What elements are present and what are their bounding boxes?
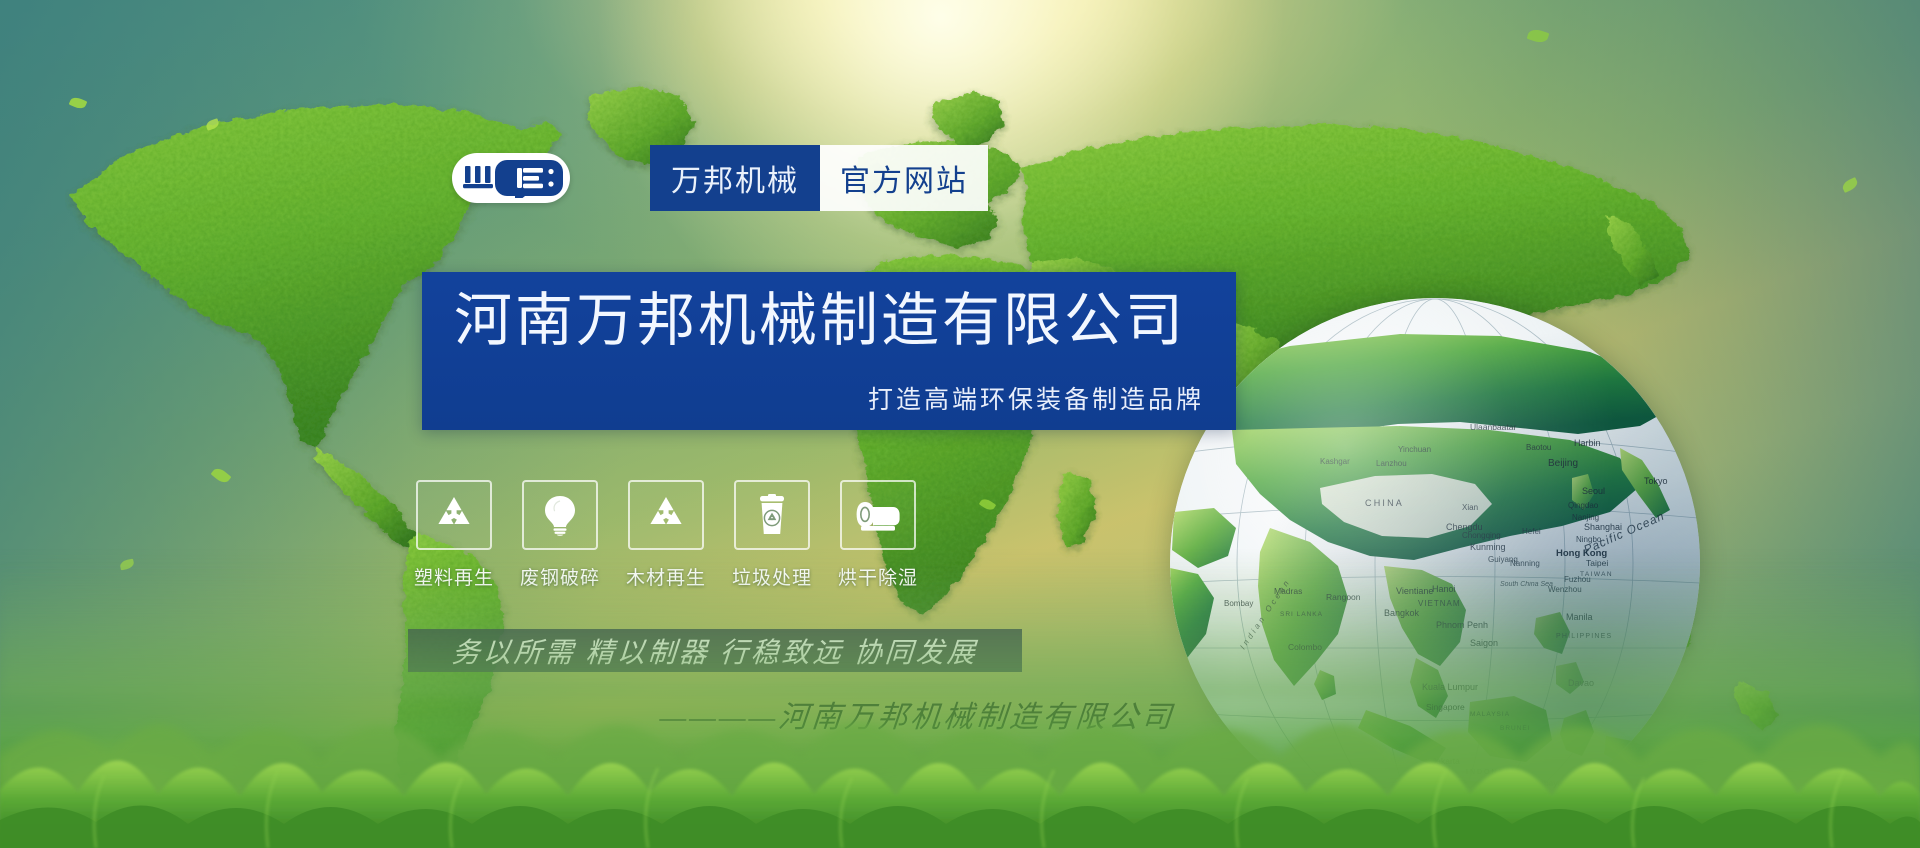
feature-box[interactable] xyxy=(734,480,810,550)
feature-box[interactable] xyxy=(628,480,704,550)
dryer-icon xyxy=(855,498,901,532)
grass-blades xyxy=(0,608,1920,848)
svg-text:Seoul: Seoul xyxy=(1582,486,1605,496)
svg-text:Chongqing: Chongqing xyxy=(1462,531,1501,540)
trash-bin-icon xyxy=(756,494,788,536)
svg-text:Hefei: Hefei xyxy=(1522,527,1541,536)
svg-text:Ningbo: Ningbo xyxy=(1576,535,1602,544)
svg-text:Xian: Xian xyxy=(1462,503,1478,512)
feature-box[interactable] xyxy=(522,480,598,550)
brand-tab-company[interactable]: 万邦机械 xyxy=(650,145,820,211)
svg-text:CHINA: CHINA xyxy=(1365,498,1404,508)
lightbulb-icon xyxy=(543,494,577,536)
hero-banner-stage: CHINA Beijing Ulaanbaatar Harbin Seoul T… xyxy=(0,0,1920,848)
svg-text:Nanjing: Nanjing xyxy=(1572,513,1599,522)
svg-text:Qingdao: Qingdao xyxy=(1568,501,1599,510)
svg-text:Harbin: Harbin xyxy=(1574,438,1601,448)
page-subtitle: 打造高端环保装备制造品牌 xyxy=(868,380,1204,416)
svg-text:Kashgar: Kashgar xyxy=(1320,457,1350,466)
recycle-icon xyxy=(433,495,475,535)
recycle-icon xyxy=(645,495,687,535)
svg-text:Beijing: Beijing xyxy=(1548,458,1578,469)
company-title-panel: 河南万邦机械制造有限公司 打造高端环保装备制造品牌 xyxy=(422,272,1236,430)
svg-text:Baotou: Baotou xyxy=(1526,443,1551,452)
svg-text:Lanzhou: Lanzhou xyxy=(1376,459,1407,468)
svg-text:Tokyo: Tokyo xyxy=(1644,476,1668,486)
feature-box[interactable] xyxy=(840,480,916,550)
brand-header: 万邦机械 官方网站 xyxy=(452,145,988,211)
brand-tab-official-site[interactable]: 官方网站 xyxy=(820,145,988,211)
company-logo[interactable] xyxy=(452,153,570,203)
page-title: 河南万邦机械制造有限公司 xyxy=(454,290,1186,353)
wb-logo-icon xyxy=(459,158,563,198)
svg-text:Yinchuan: Yinchuan xyxy=(1398,445,1431,454)
svg-text:Ulaanbaatar: Ulaanbaatar xyxy=(1470,422,1516,432)
feature-box[interactable] xyxy=(416,480,492,550)
